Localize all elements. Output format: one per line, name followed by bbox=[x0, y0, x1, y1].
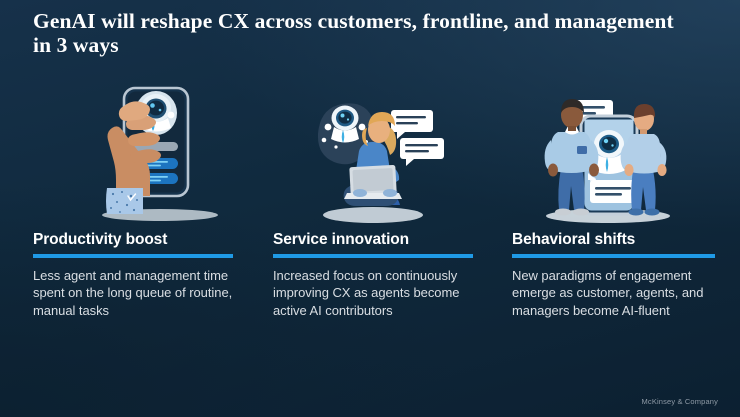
accent-rule bbox=[273, 254, 473, 258]
column-heading: Service innovation bbox=[273, 231, 409, 249]
column-heading: Productivity boost bbox=[33, 231, 167, 249]
brand-footer: McKinsey & Company bbox=[642, 397, 718, 406]
page-title: GenAI will reshape CX across customers, … bbox=[33, 9, 693, 57]
illustration-hand-holding-phone bbox=[82, 84, 222, 224]
speech-bubble-top bbox=[391, 110, 433, 139]
column-body: New paradigms of engagement emerge as cu… bbox=[512, 267, 724, 319]
illustration-person-with-laptop bbox=[300, 94, 446, 226]
sleeve-cuff bbox=[106, 188, 143, 214]
column-body: Increased focus on continuously improvin… bbox=[273, 267, 479, 319]
slide-canvas: GenAI will reshape CX across customers, … bbox=[0, 0, 740, 417]
accent-rule bbox=[512, 254, 715, 258]
column-body: Less agent and management time spent on … bbox=[33, 267, 239, 319]
column-heading: Behavioral shifts bbox=[512, 231, 635, 249]
speech-bubble-bottom bbox=[400, 138, 444, 166]
ground-shadow bbox=[323, 207, 423, 223]
accent-rule bbox=[33, 254, 233, 258]
illustration-two-people-phone bbox=[533, 88, 683, 226]
